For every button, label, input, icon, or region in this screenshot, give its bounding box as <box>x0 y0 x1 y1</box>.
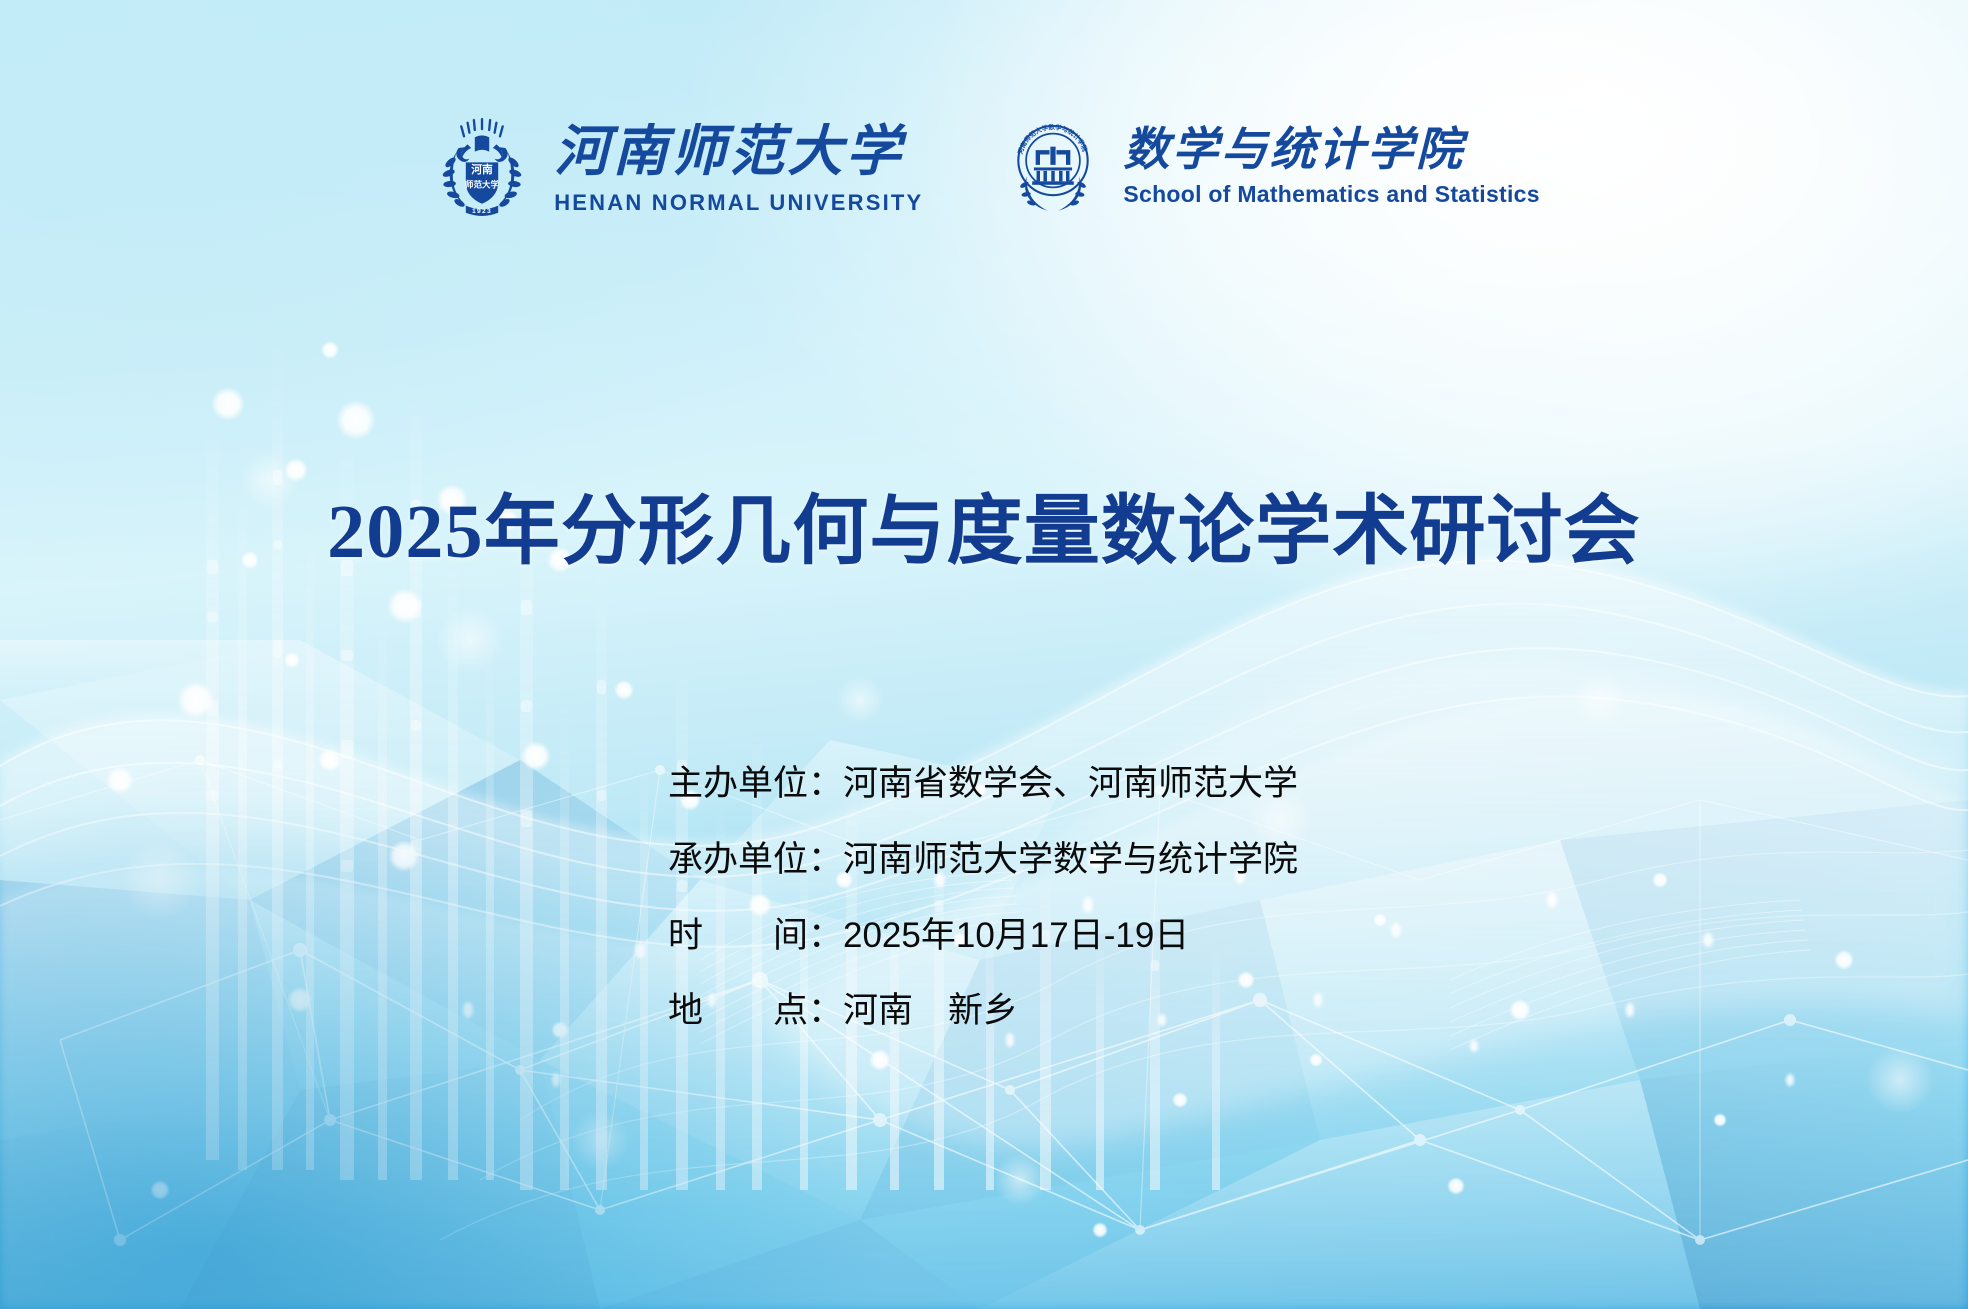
school-logo: 河南师范大学数学与统计学院 <box>1001 112 1539 221</box>
school-name-en: School of Mathematics and Statistics <box>1123 183 1539 206</box>
detail-location: 地 点：河南 新乡 <box>668 992 1298 1030</box>
conference-poster: 河南 师范大学 1923 河南师范大学 HENAN NORMAL UNIVERS… <box>0 0 1968 1309</box>
detail-organizer: 主办单位：河南省数学会、河南师范大学 <box>668 765 1298 803</box>
school-of-mathematics-and-statistics-seal-icon: 河南师范大学数学与统计学院 <box>1001 112 1105 221</box>
henan-normal-university-crest-icon: 河南 师范大学 1923 <box>428 112 536 225</box>
crest-text-top: 河南 <box>471 163 493 176</box>
page-title: 2025年分形几何与度量数论学术研讨会 <box>0 469 1968 579</box>
conference-details: 主办单位：河南省数学会、河南师范大学 承办单位：河南师范大学数学与统计学院 时 … <box>668 765 1298 1030</box>
university-name-en: HENAN NORMAL UNIVERSITY <box>554 192 923 214</box>
detail-time: 时 间：2025年10月17日-19日 <box>668 917 1298 955</box>
university-logo: 河南 师范大学 1923 河南师范大学 HENAN NORMAL UNIVERS… <box>428 112 923 225</box>
university-name-cn: 河南师范大学 <box>554 124 923 179</box>
detail-host: 承办单位：河南师范大学数学与统计学院 <box>668 841 1298 879</box>
school-name-cn: 数学与统计学院 <box>1123 127 1539 173</box>
crest-year: 1923 <box>472 208 492 215</box>
logo-row: 河南 师范大学 1923 河南师范大学 HENAN NORMAL UNIVERS… <box>0 112 1968 225</box>
crest-text-bottom: 师范大学 <box>465 179 500 190</box>
